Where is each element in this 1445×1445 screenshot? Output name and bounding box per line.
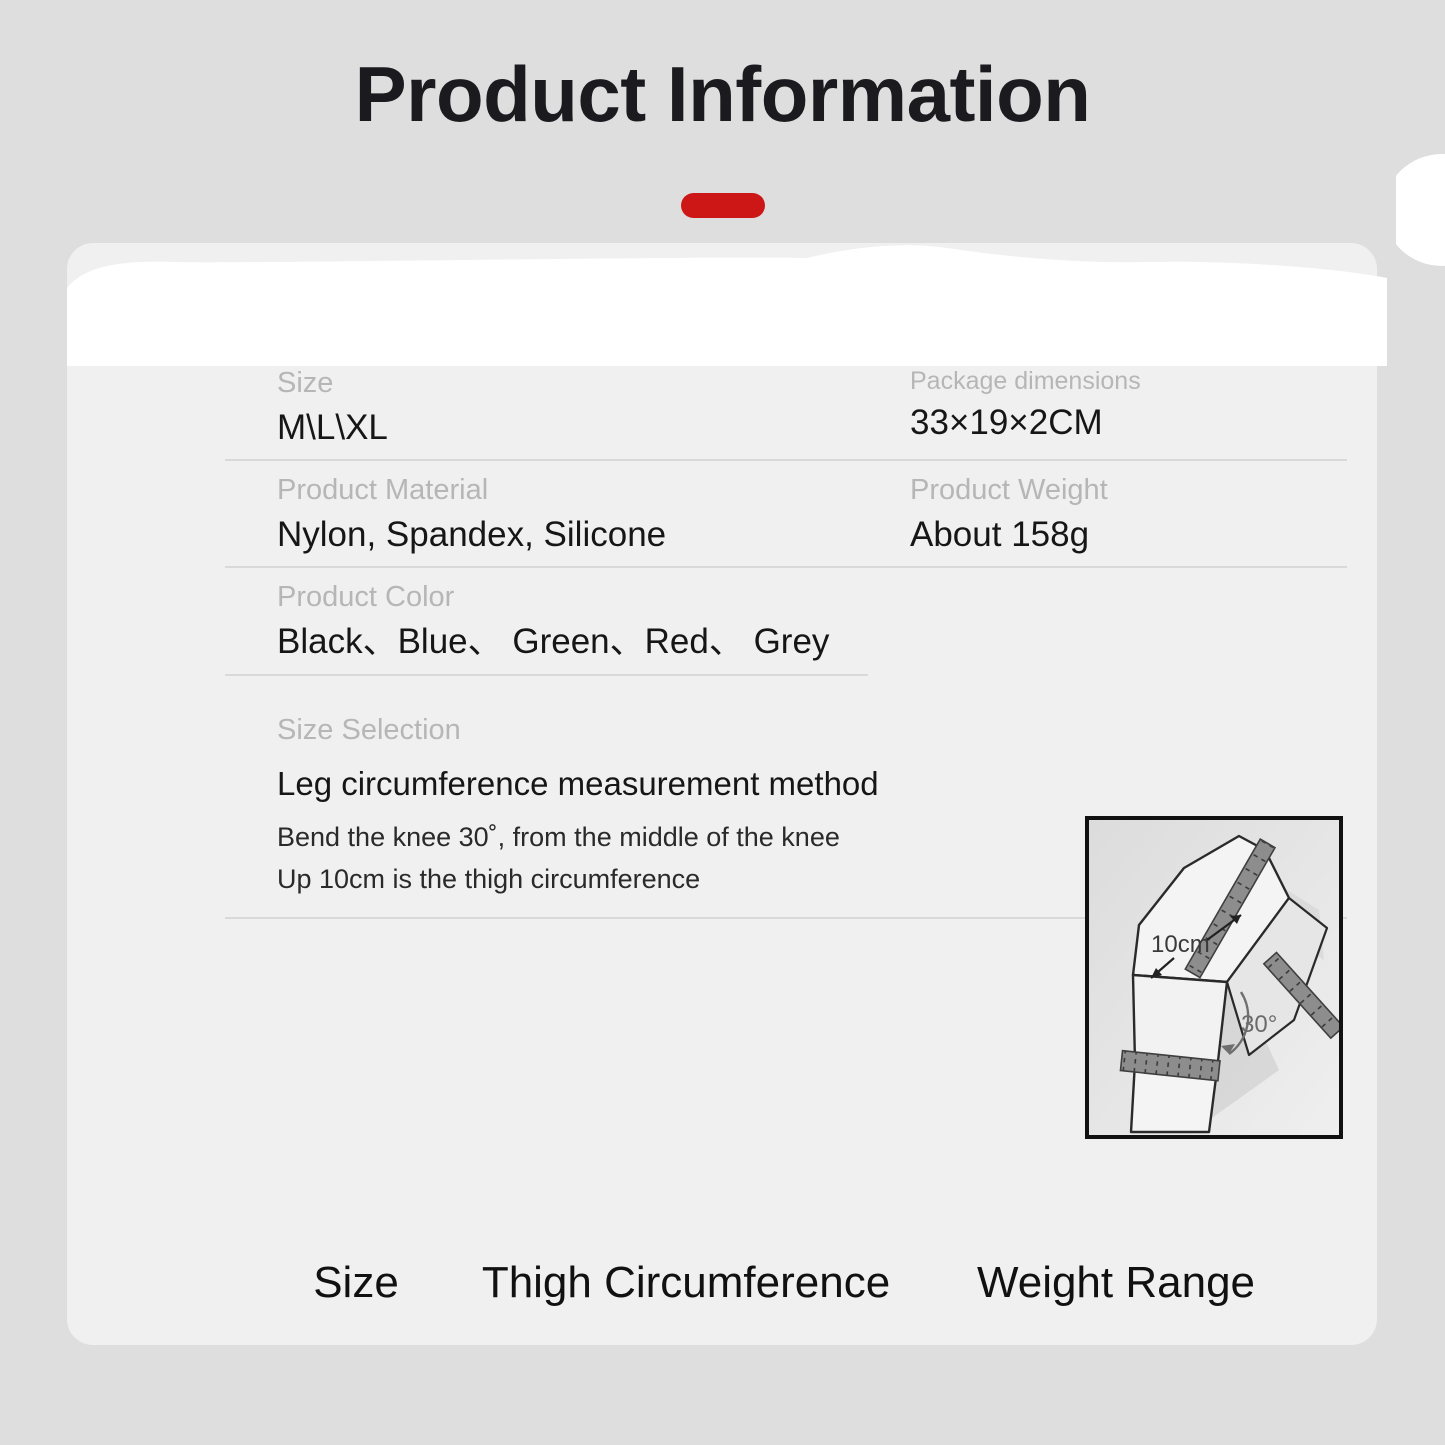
product-information-page: Product Information Size M\L\XL Package … xyxy=(0,0,1445,1445)
size-table-header-row: Size Thigh Circumference Weight Range xyxy=(236,1247,1336,1319)
info-card: Size M\L\XL Package dimensions 33×19×2CM… xyxy=(67,243,1377,1345)
distance-label: 10cm xyxy=(1151,931,1210,958)
spec-product-color: Product Color Black、Blue、 Green、Red、 Gre… xyxy=(225,568,862,673)
size-selection-heading: Leg circumference measurement method xyxy=(277,765,1085,803)
column-header-thigh-circumference: Thigh Circumference xyxy=(476,1258,896,1308)
spec-label-product-color: Product Color xyxy=(277,579,862,617)
spec-value-size: M\L\XL xyxy=(277,405,862,451)
spec-value-product-weight: About 158g xyxy=(910,512,1347,558)
spec-size: Size M\L\XL xyxy=(225,354,862,459)
spec-product-weight: Product Weight About 158g xyxy=(862,461,1347,566)
spec-label-size-selection: Size Selection xyxy=(277,712,1085,750)
decorative-blob-corner xyxy=(1396,150,1445,270)
size-selection-line-2: Up 10cm is the thigh circumference xyxy=(277,859,1085,901)
spec-label-product-weight: Product Weight xyxy=(910,472,1347,510)
spec-value-product-material: Nylon, Spandex, Silicone xyxy=(277,512,862,558)
spec-label-product-material: Product Material xyxy=(277,472,862,510)
leg-measurement-svg: 10cm 30° xyxy=(1089,820,1339,1135)
spec-row-material: Product Material Nylon, Spandex, Silicon… xyxy=(225,461,1347,566)
spec-size-selection: Size Selection Leg circumference measure… xyxy=(225,676,1085,917)
size-selection-line-1: Bend the knee 30˚, from the middle of th… xyxy=(277,817,1085,859)
size-table: Size Thigh Circumference Weight Range M … xyxy=(236,1247,1336,1345)
spec-row-color: Product Color Black、Blue、 Green、Red、 Gre… xyxy=(225,568,1347,673)
spec-package-dimensions: Package dimensions 33×19×2CM xyxy=(862,354,1347,459)
spec-product-material: Product Material Nylon, Spandex, Silicon… xyxy=(225,461,862,566)
spec-row-size: Size M\L\XL Package dimensions 33×19×2CM xyxy=(225,354,1347,459)
leg-measurement-diagram: 10cm 30° xyxy=(1085,816,1343,1139)
angle-label: 30° xyxy=(1241,1011,1277,1038)
column-header-weight-range: Weight Range xyxy=(896,1258,1336,1308)
accent-bar xyxy=(681,193,765,218)
spec-label-size: Size xyxy=(277,365,862,403)
page-title: Product Information xyxy=(0,55,1445,133)
spec-value-package-dimensions: 33×19×2CM xyxy=(910,400,1347,446)
spec-value-product-color: Black、Blue、 Green、Red、 Grey xyxy=(277,619,862,665)
spec-label-package-dimensions: Package dimensions xyxy=(910,365,1347,398)
column-header-size: Size xyxy=(236,1258,476,1308)
